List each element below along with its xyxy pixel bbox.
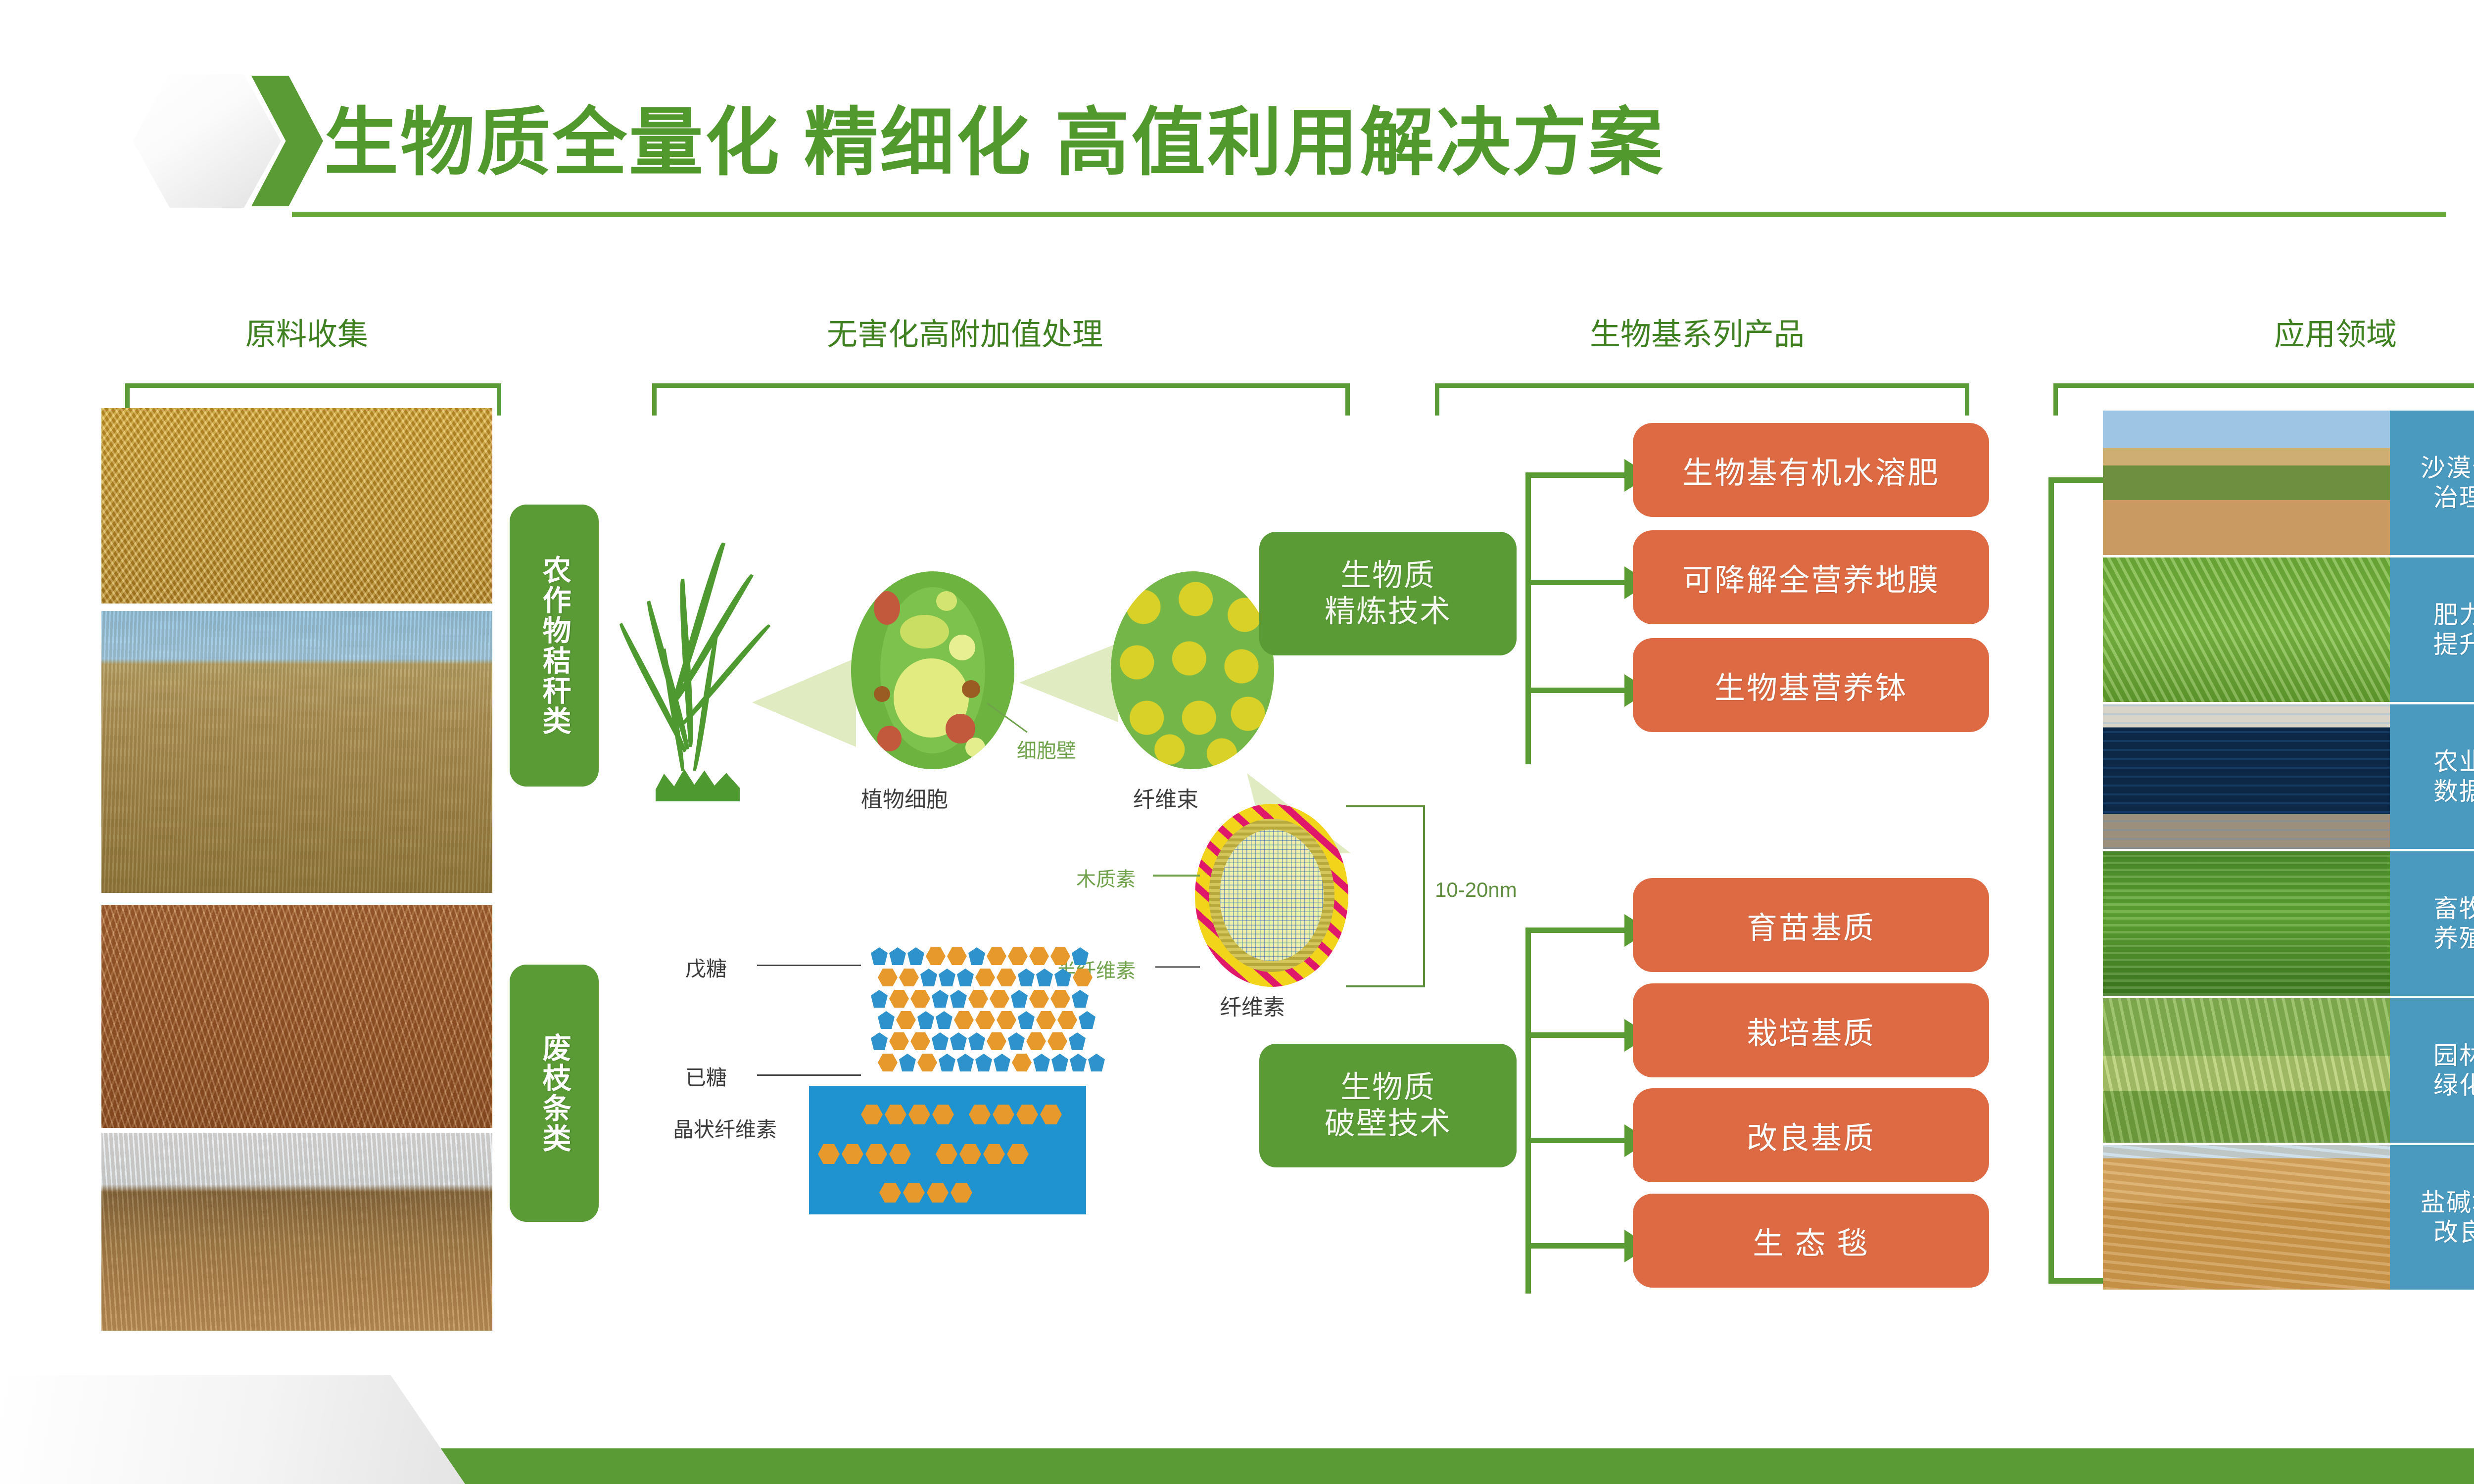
hexose-unit-icon	[987, 1032, 1006, 1050]
title-divider	[292, 212, 2446, 217]
flow1-arrow-line-1	[1525, 472, 1624, 478]
sugar-chain-row	[871, 990, 1089, 1008]
hexose-unit-icon	[1026, 1032, 1046, 1050]
hexose-unit-icon	[878, 1054, 898, 1071]
flow1-arrow-line-3	[1525, 688, 1624, 693]
category-pill-waste-branch[interactable]: 废枝条类	[510, 965, 599, 1222]
pentose-unit-icon	[1072, 947, 1089, 965]
hexose-unit-icon	[910, 990, 930, 1008]
pentose-unit-icon	[920, 969, 937, 986]
flow1-bus	[1525, 472, 1531, 764]
pentose-unit-icon	[994, 1054, 1010, 1071]
application-photo-grazing-sheep-photo	[2103, 851, 2390, 996]
lignin-leader-line	[1153, 875, 1200, 877]
label-plant-cell: 植物细胞	[861, 782, 948, 813]
pentose-unit-icon	[975, 1054, 992, 1071]
product-box-improvement-substrate[interactable]: 改良基质	[1633, 1088, 1989, 1182]
flow2-arrow-line-3	[1525, 1138, 1624, 1143]
section-title-processing: 无害化高附加值处理	[579, 309, 1351, 354]
application-label-line1: 农业	[2433, 747, 2474, 777]
label-cellulose: 纤维素	[1220, 989, 1285, 1021]
section-title-raw-material: 原料收集	[168, 309, 445, 354]
pentose-unit-icon	[1018, 1011, 1035, 1029]
applications-bracket-vertical	[2048, 477, 2054, 1284]
photo-corn-straw-field	[101, 408, 492, 603]
fiber-bundle-illustration	[1111, 571, 1274, 769]
sugar-chain-row	[871, 1032, 1086, 1050]
tech-box-cell-wall-breaking[interactable]: 生物质 破壁技术	[1259, 1044, 1517, 1167]
sugar-chain-row	[878, 969, 1093, 986]
hexose-unit-icon	[1047, 1032, 1067, 1050]
bracket-processing	[652, 383, 1350, 416]
product-box-biodegradable-mulch-film[interactable]: 可降解全营养地膜	[1633, 530, 1989, 624]
application-row[interactable]: 盐碱地改良	[2103, 1145, 2474, 1290]
header-band: 生物质全量化 精细化 高值利用解决方案	[0, 0, 2474, 257]
pentose-leader-line	[757, 965, 861, 966]
page-title: 生物质全量化 精细化 高值利用解决方案	[324, 87, 1665, 185]
pentose-unit-icon	[932, 1032, 949, 1050]
application-row[interactable]: 肥力提升	[2103, 557, 2474, 702]
pentose-unit-icon	[1018, 969, 1035, 986]
application-label-line2: 治理	[2433, 483, 2474, 512]
plant-cell-illustration	[851, 571, 1014, 769]
photo-pruned-branches	[101, 905, 492, 1128]
pentose-unit-icon	[1008, 1032, 1025, 1050]
application-label: 畜牧养殖	[2390, 851, 2474, 996]
dim-vertical-line	[1423, 805, 1425, 987]
hexose-unit-icon	[997, 1011, 1016, 1029]
hexose-unit-icon	[889, 1032, 909, 1050]
pentose-unit-icon	[968, 1032, 985, 1050]
label-crystalline-cellulose: 晶状纤维素	[673, 1113, 777, 1143]
tech-box-breaking-line2: 破壁技术	[1325, 1106, 1451, 1142]
slide-canvas: 生物质全量化 精细化 高值利用解决方案 原料收集 无害化高附加值处理 生物基系列…	[0, 0, 2474, 1484]
pentose-unit-icon	[939, 1054, 955, 1071]
flow2-bus	[1525, 927, 1531, 1294]
application-label-line1: 畜牧	[2433, 894, 2474, 924]
pentose-unit-icon	[950, 1032, 967, 1050]
application-label: 农业数据	[2390, 704, 2474, 849]
hexose-unit-icon	[968, 990, 988, 1008]
section-title-applications: 应用领域	[2118, 309, 2474, 354]
pentose-unit-icon	[899, 1054, 916, 1071]
product-label: 栽培基质	[1747, 1008, 1875, 1053]
hexose-unit-icon	[910, 1032, 930, 1050]
photo-straw-bale-field	[101, 611, 492, 893]
pentose-unit-icon	[950, 990, 967, 1008]
sugar-chain-row	[878, 1054, 1105, 1071]
hexose-unit-icon	[1050, 947, 1070, 965]
application-photo-desert-control-photo	[2103, 411, 2390, 555]
footer-wedge-decor	[0, 1375, 465, 1484]
application-row[interactable]: 畜牧养殖	[2103, 851, 2474, 996]
pentose-unit-icon	[878, 1011, 895, 1029]
hexose-unit-icon	[997, 969, 1016, 986]
pentose-unit-icon	[1069, 1032, 1086, 1050]
pentose-unit-icon	[1079, 1011, 1095, 1029]
tech-box-refining[interactable]: 生物质 精炼技术	[1259, 532, 1517, 655]
category-pill-waste-branch-label: 废枝条类	[539, 1033, 569, 1154]
hexose-unit-icon	[1036, 1011, 1056, 1029]
pentose-unit-icon	[907, 947, 924, 965]
product-box-bio-nutrient-pot[interactable]: 生物基营养钵	[1633, 638, 1989, 732]
product-box-cultivation-substrate[interactable]: 栽培基质	[1633, 983, 1989, 1077]
product-label: 改良基质	[1747, 1113, 1875, 1158]
hemicellulose-leader-line	[1155, 966, 1200, 968]
fiber-cross-section	[1195, 804, 1348, 987]
hexose-unit-icon	[1073, 969, 1093, 986]
sugar-chain-row	[871, 947, 1089, 965]
hexose-unit-icon	[896, 1011, 916, 1029]
application-photo-landscaping-greening-photo	[2103, 998, 2390, 1143]
application-label-line1: 盐碱地	[2421, 1188, 2474, 1217]
application-photo-agriculture-data-center-photo	[2103, 704, 2390, 849]
application-label: 肥力提升	[2390, 557, 2474, 702]
pentose-unit-icon	[1072, 990, 1089, 1008]
application-label-line1: 沙漠化	[2421, 453, 2474, 483]
crystalline-cellulose-diagram	[809, 1086, 1086, 1214]
application-label: 沙漠化治理	[2390, 411, 2474, 555]
application-photo-cabbage-field-photo	[2103, 557, 2390, 702]
hexose-unit-icon	[1012, 1054, 1032, 1071]
label-cell-wall: 细胞壁	[1017, 735, 1076, 763]
hexose-unit-icon	[1050, 990, 1070, 1008]
label-fiber-bundle: 纤维束	[1133, 782, 1198, 813]
pentose-unit-icon	[957, 969, 974, 986]
pentose-unit-icon	[871, 1032, 888, 1050]
tech-box-refining-line1: 生物质	[1340, 557, 1435, 594]
hexose-unit-icon	[947, 947, 967, 965]
hexose-unit-icon	[975, 1011, 995, 1029]
application-label-line1: 肥力	[2433, 600, 2474, 630]
hexose-unit-icon	[1029, 947, 1049, 965]
application-row[interactable]: 园林绿化	[2103, 998, 2474, 1143]
hexose-unit-icon	[917, 1054, 937, 1071]
zoom-cone-cell-to-bundle	[1019, 643, 1118, 722]
tech-box-breaking-line1: 生物质	[1340, 1069, 1435, 1106]
flow2-arrow-line-1	[1525, 927, 1624, 933]
section-title-products: 生物基系列产品	[1430, 309, 1964, 354]
product-box-organic-water-soluble-fertilizer[interactable]: 生物基有机水溶肥	[1633, 423, 1989, 517]
product-box-seedling-substrate[interactable]: 育苗基质	[1633, 878, 1989, 972]
product-label: 生物基有机水溶肥	[1682, 448, 1940, 492]
pentose-unit-icon	[1051, 1054, 1068, 1071]
label-pentose: 戊糖	[685, 952, 727, 982]
application-label-line2: 养殖	[2433, 924, 2474, 953]
hexose-unit-icon	[926, 947, 946, 965]
pentose-unit-icon	[917, 1011, 934, 1029]
pentose-unit-icon	[1070, 1054, 1087, 1071]
pentose-unit-icon	[932, 990, 949, 1008]
bracket-products	[1435, 383, 1969, 416]
application-label-line2: 绿化	[2433, 1070, 2474, 1100]
product-label: 生物基营养钵	[1714, 663, 1907, 707]
application-row[interactable]: 农业数据	[2103, 704, 2474, 849]
product-box-ecological-blanket[interactable]: 生 态 毯	[1633, 1194, 1989, 1288]
category-pill-crop-straw-label: 农作物秸秆类	[539, 555, 569, 736]
application-photo-saline-alkali-land-photo	[2103, 1145, 2390, 1290]
hexose-unit-icon	[954, 1011, 974, 1029]
hexose-unit-icon	[878, 969, 898, 986]
application-label-line2: 数据	[2433, 777, 2474, 806]
product-label: 可降解全营养地膜	[1682, 555, 1940, 600]
pentose-unit-icon	[871, 947, 888, 965]
hexose-unit-icon	[889, 990, 909, 1008]
pentose-unit-icon	[1011, 990, 1028, 1008]
flow1-arrow-line-2	[1525, 580, 1624, 585]
pentose-unit-icon	[1054, 969, 1071, 986]
pentose-unit-icon	[871, 990, 888, 1008]
application-row[interactable]: 沙漠化治理	[2103, 411, 2474, 555]
application-label: 盐碱地改良	[2390, 1145, 2474, 1290]
pentose-unit-icon	[936, 1011, 952, 1029]
application-label-line2: 提升	[2433, 630, 2474, 659]
pentose-unit-icon	[957, 1054, 974, 1071]
hexose-unit-icon	[975, 969, 995, 986]
label-hexose: 已糖	[685, 1061, 727, 1091]
grass-plant-icon	[636, 534, 774, 811]
hexose-unit-icon	[1057, 1011, 1077, 1029]
tech-box-refining-line2: 精炼技术	[1325, 594, 1451, 630]
hexagon-decor-icon	[133, 74, 281, 208]
product-label: 生 态 毯	[1753, 1218, 1869, 1263]
photo-orchard-pruning	[101, 1133, 492, 1331]
application-label-line1: 园林	[2433, 1041, 2474, 1070]
pentose-unit-icon	[939, 969, 955, 986]
flow2-arrow-line-4	[1525, 1243, 1624, 1249]
product-label: 育苗基质	[1747, 903, 1875, 947]
category-pill-crop-straw[interactable]: 农作物秸秆类	[510, 505, 599, 787]
label-lignin: 木质素	[1076, 863, 1136, 892]
dim-bottom-tick	[1346, 985, 1425, 987]
pentose-unit-icon	[1088, 1054, 1105, 1071]
flow2-arrow-line-2	[1525, 1032, 1624, 1038]
application-label-line2: 改良	[2433, 1217, 2474, 1247]
hexose-unit-icon	[899, 969, 919, 986]
hexose-unit-icon	[1029, 990, 1049, 1008]
hexose-unit-icon	[990, 990, 1009, 1008]
hexose-unit-icon	[1008, 947, 1028, 965]
hexose-leader-line	[757, 1074, 861, 1076]
label-fiber-dimension: 10-20nm	[1435, 878, 1517, 902]
hexose-unit-icon	[987, 947, 1006, 965]
pentose-unit-icon	[968, 947, 985, 965]
sugar-chain-row	[878, 1011, 1095, 1029]
dim-top-tick	[1346, 805, 1425, 807]
pentose-unit-icon	[889, 947, 906, 965]
application-label: 园林绿化	[2390, 998, 2474, 1143]
pentose-unit-icon	[1036, 969, 1053, 986]
pentose-unit-icon	[1033, 1054, 1050, 1071]
